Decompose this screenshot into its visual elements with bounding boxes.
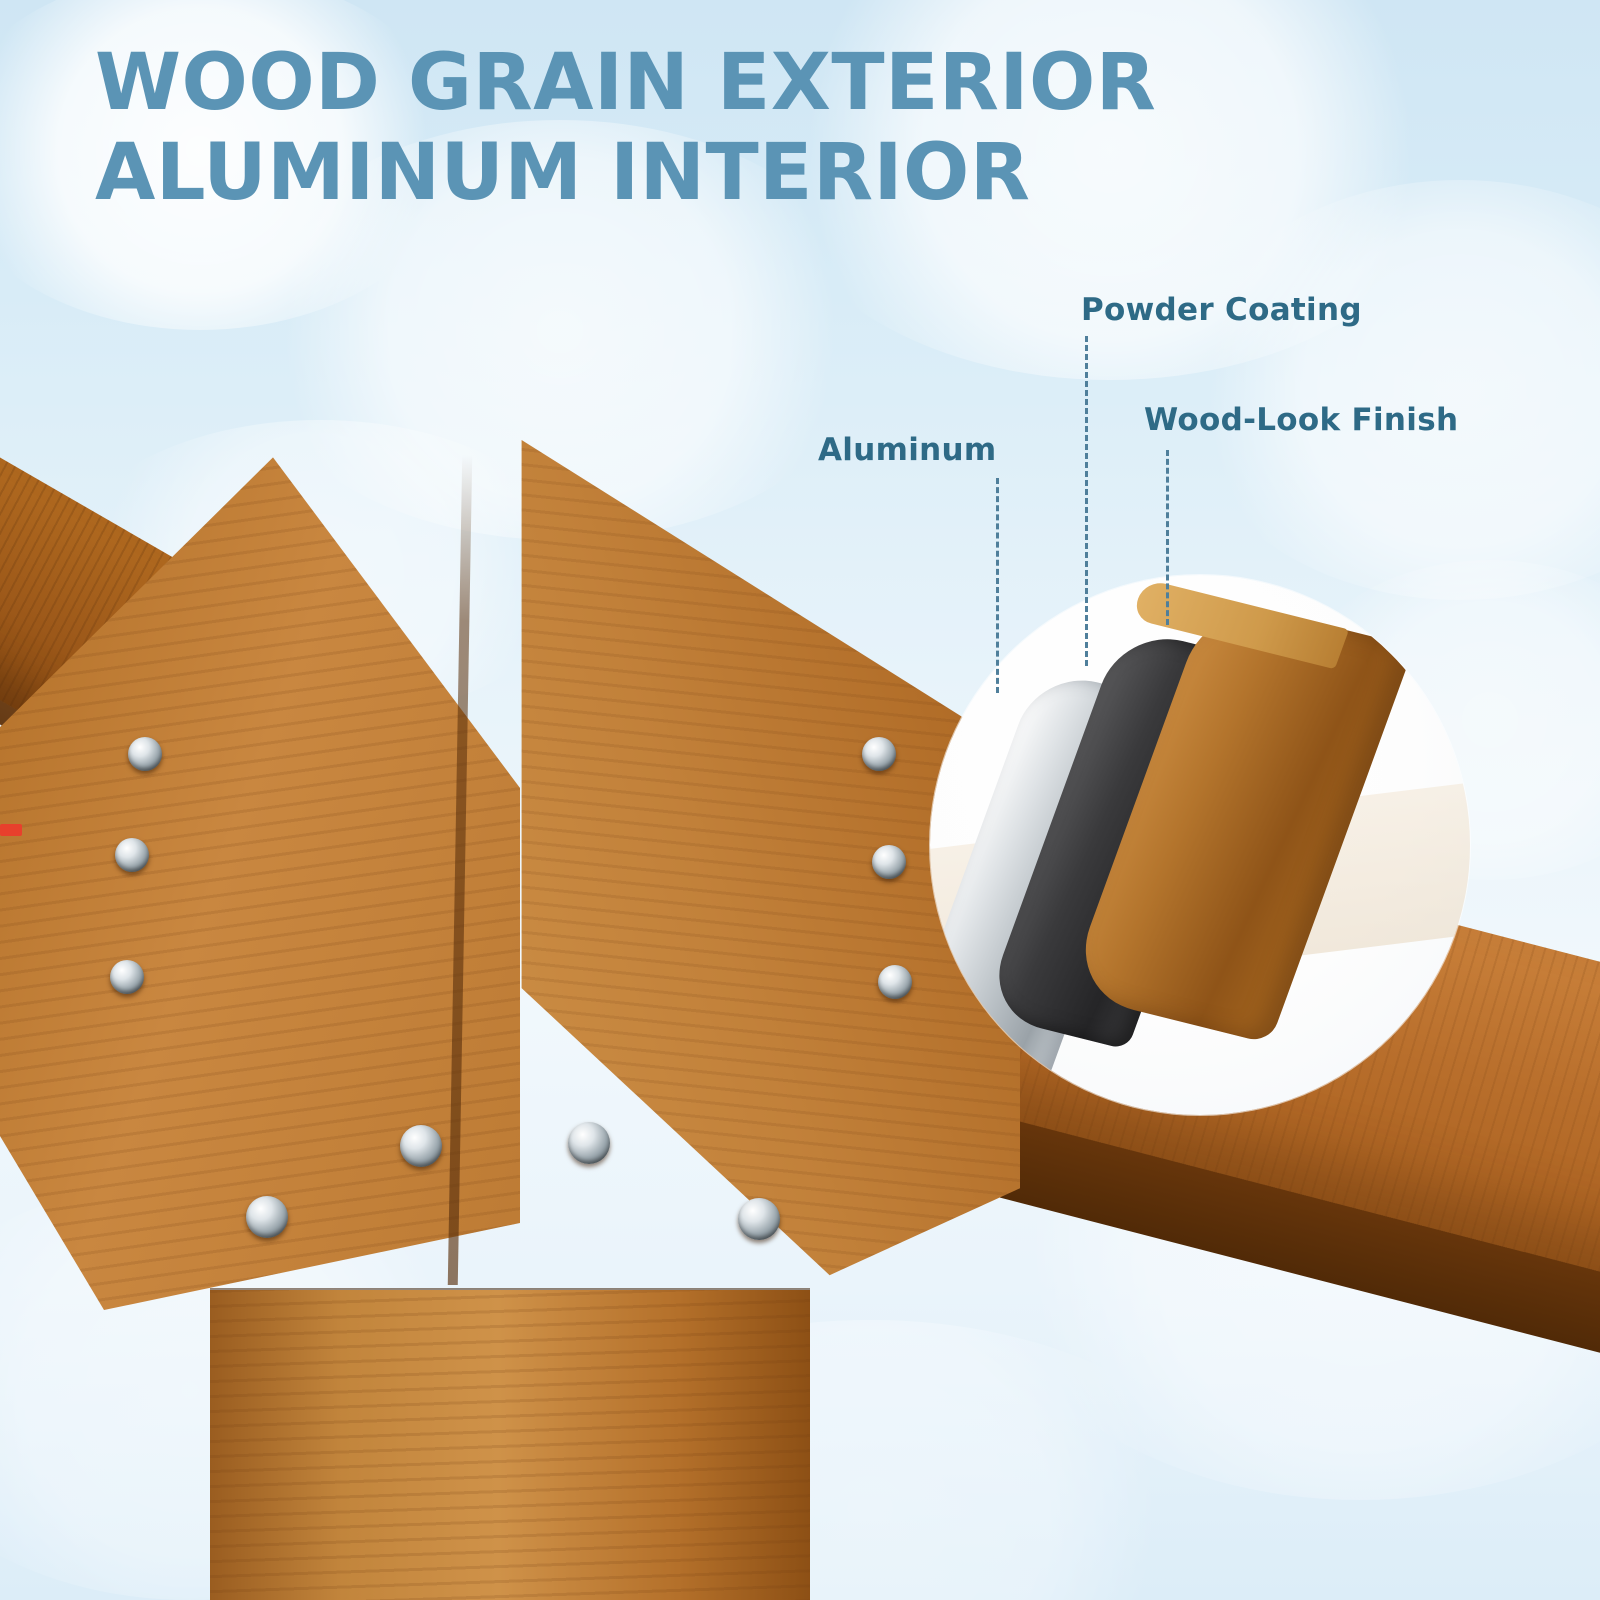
- screw: [246, 1196, 288, 1238]
- screw: [568, 1122, 610, 1164]
- screw: [872, 845, 906, 879]
- callout-label-wood-look-finish: Wood-Look Finish: [1144, 402, 1458, 438]
- product-feature-image: WOOD GRAIN EXTERIOR ALUMINUM INTERIOR: [0, 0, 1600, 1600]
- screw: [878, 965, 912, 999]
- corner-cap-assembly: [0, 440, 1010, 1310]
- leader-line-powder-coating: [1085, 336, 1088, 666]
- screw: [862, 737, 896, 771]
- screw: [400, 1125, 442, 1167]
- red-marker: [0, 824, 22, 836]
- screw: [115, 838, 149, 872]
- screw: [110, 960, 144, 994]
- leader-line-aluminum: [996, 478, 999, 693]
- cutaway-detail-circle: [930, 575, 1470, 1115]
- corner-cap-left-face: [0, 440, 520, 1310]
- screw: [128, 737, 162, 771]
- vertical-post: [210, 1290, 810, 1600]
- callout-label-powder-coating: Powder Coating: [1081, 292, 1362, 328]
- screw: [738, 1198, 780, 1240]
- leader-line-wood-look-finish: [1166, 450, 1169, 625]
- callout-label-aluminum: Aluminum: [818, 432, 996, 468]
